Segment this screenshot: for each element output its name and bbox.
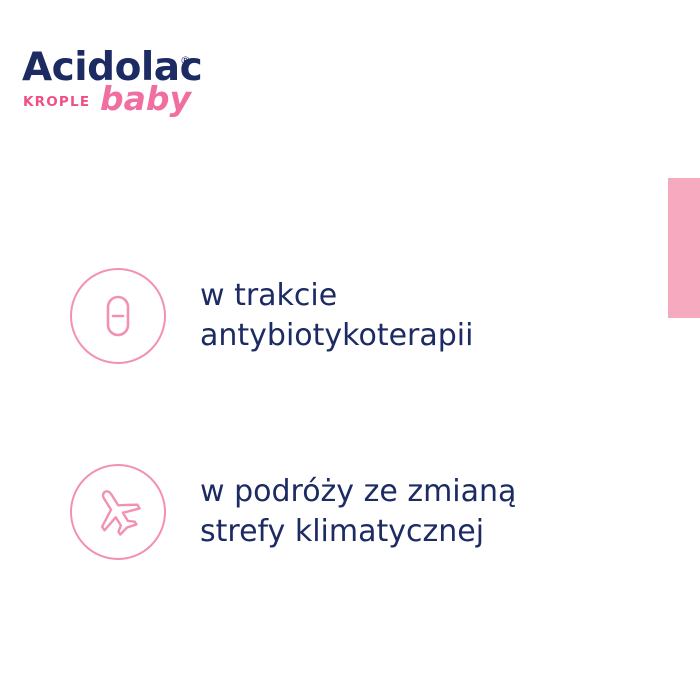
registered-trademark-icon: ®	[180, 54, 191, 67]
brand-variant: baby	[100, 82, 191, 115]
feature-row-antibiotic: w trakcie antybiotykoterapii	[70, 268, 473, 364]
right-edge-accent-bar	[668, 178, 700, 318]
feature-label: w trakcie antybiotykoterapii	[200, 276, 473, 355]
product-infographic: Acidolac ® KROPLE baby w trakcie antybio…	[0, 0, 700, 700]
brand-logo: Acidolac ® KROPLE baby	[22, 48, 352, 128]
feature-label: w podróży ze zmianą strefy klimatycznej	[200, 472, 516, 551]
capsule-pill-icon	[70, 268, 166, 364]
feature-row-travel: w podróży ze zmianą strefy klimatycznej	[70, 464, 516, 560]
airplane-icon	[70, 464, 166, 560]
brand-subtitle: KROPLE	[23, 94, 90, 110]
